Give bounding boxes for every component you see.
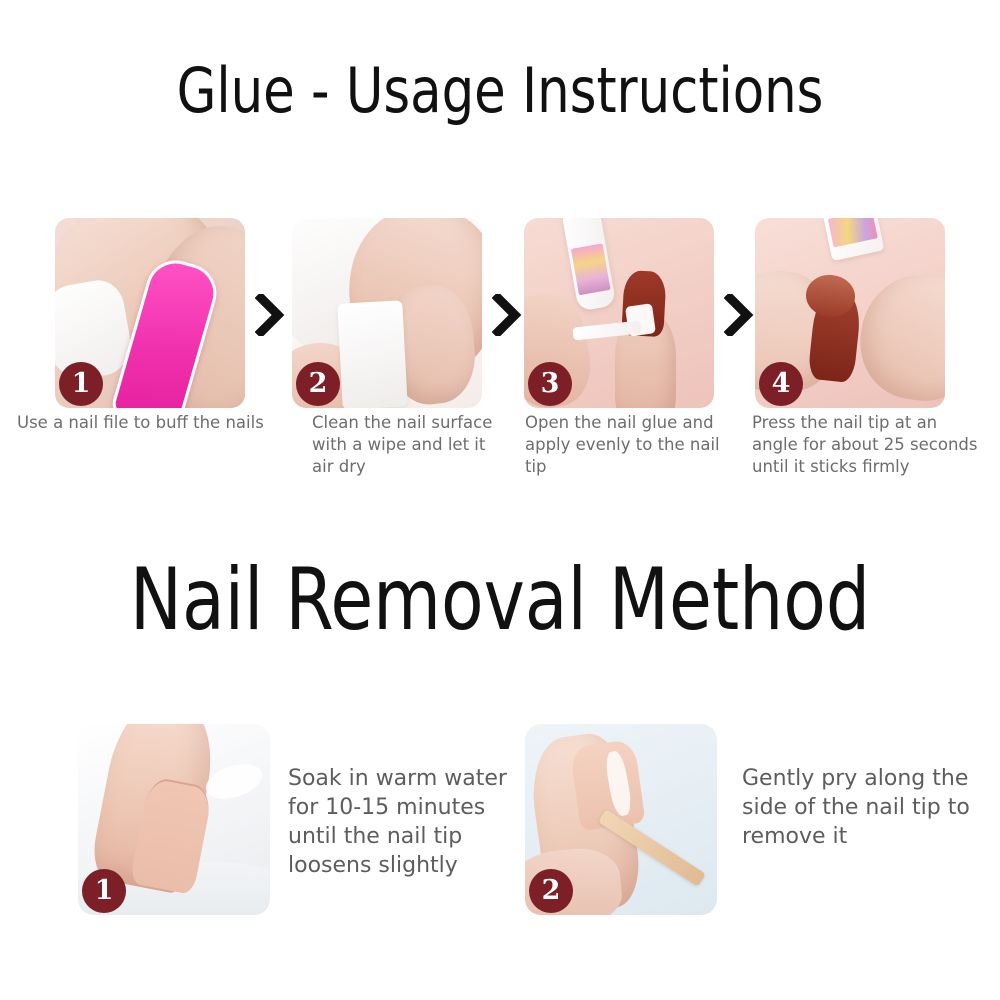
removal-step-2-photo: 2 — [525, 724, 717, 915]
glue-step-2-photo: 2 — [292, 218, 482, 408]
glue-step-2: 2 Clean the nail surface with a wipe and… — [292, 218, 512, 478]
removal-step-2: 2 — [525, 724, 717, 915]
removal-step-1-photo: 1 — [78, 724, 270, 915]
removal-steps-row: 1 Soak in warm water for 10-15 minutes u… — [0, 724, 1000, 924]
glue-step-4: 4 Press the nail tip at an angle for abo… — [755, 218, 987, 478]
glue-step-1: 1 Use a nail file to buff the nails — [55, 218, 285, 434]
glue-step-2-caption: Clean the nail surface with a wipe and l… — [312, 412, 512, 478]
glue-step-1-caption: Use a nail file to buff the nails — [17, 412, 285, 434]
removal-step-1-caption: Soak in warm water for 10-15 minutes unt… — [288, 764, 508, 880]
glue-step-3-badge: 3 — [528, 362, 572, 406]
removal-step-2-badge: 2 — [529, 869, 573, 913]
chevron-right-icon-2 — [492, 294, 522, 336]
glue-section-title: Glue - Usage Instructions — [40, 56, 960, 126]
removal-step-2-caption: Gently pry along the side of the nail ti… — [742, 764, 972, 851]
glue-step-4-photo: 4 — [755, 218, 945, 408]
glue-step-2-badge: 2 — [296, 362, 340, 406]
chevron-right-icon-3 — [724, 294, 754, 336]
glue-step-1-photo: 1 — [55, 218, 245, 408]
glue-step-3-photo: 3 — [524, 218, 714, 408]
glue-steps-row: 1 Use a nail file to buff the nails 2 Cl… — [0, 218, 1000, 508]
chevron-right-icon-1 — [255, 294, 285, 336]
glue-step-3-caption: Open the nail glue and apply evenly to t… — [525, 412, 731, 478]
removal-step-1-badge: 1 — [82, 869, 126, 913]
removal-step-1: 1 — [78, 724, 270, 915]
glue-step-1-badge: 1 — [59, 362, 103, 406]
glue-step-4-caption: Press the nail tip at an angle for about… — [752, 412, 987, 478]
glue-step-4-badge: 4 — [759, 362, 803, 406]
glue-step-3: 3 Open the nail glue and apply evenly to… — [524, 218, 731, 478]
removal-section-title: Nail Removal Method — [50, 552, 950, 648]
